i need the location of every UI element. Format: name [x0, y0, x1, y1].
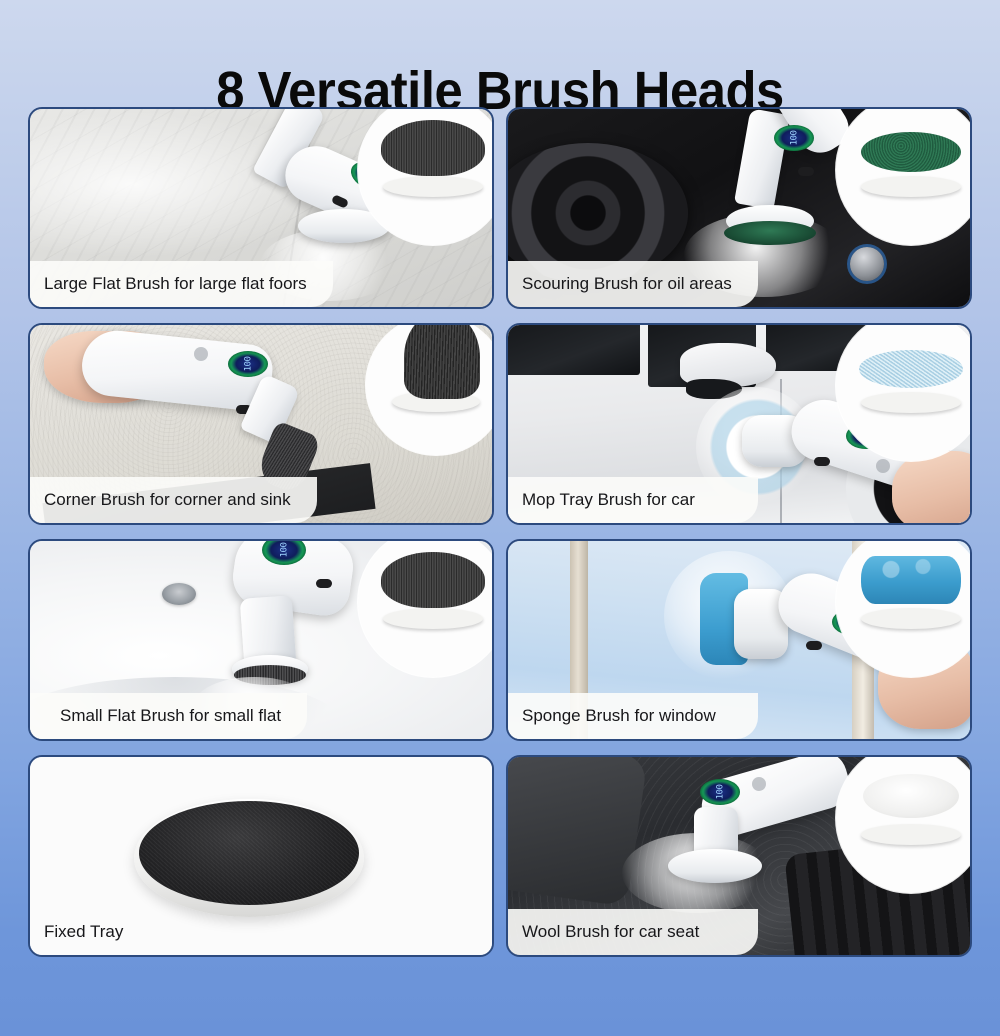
- pad-disc: [859, 798, 963, 844]
- panel-caption: Sponge Brush for window: [508, 693, 758, 739]
- panel-caption: Small Flat Brush for small flat: [30, 693, 307, 739]
- hand: [892, 451, 970, 523]
- sink-drain: [162, 583, 196, 605]
- panel-scouring-brush[interactable]: 100 Scouring Brush for oil areas: [506, 107, 972, 309]
- device-grip-dot: [194, 347, 208, 361]
- green-scouring-surface: [861, 132, 961, 172]
- tray-velcro-surface: [139, 801, 359, 905]
- panel-mop-tray-brush[interactable]: 100 Mop Tray Brush for car: [506, 323, 972, 525]
- cone-bristles: [404, 325, 480, 399]
- panel-large-flat-brush[interactable]: 100 Large Flat Brush for large flat foor…: [28, 107, 494, 309]
- wool-surface: [863, 774, 959, 818]
- panel-small-flat-brush[interactable]: 100 Small Flat Brush for small flat: [28, 539, 494, 741]
- panel-caption: Corner Brush for corner and sink: [30, 477, 317, 523]
- fixed-tray-product: [134, 799, 364, 917]
- brush-head-grid: 100 Large Flat Brush for large flat foor…: [28, 107, 972, 957]
- stove-knob: [850, 247, 884, 281]
- device-display: 100: [774, 125, 814, 151]
- brush-disc: [381, 150, 485, 196]
- pad-disc: [859, 582, 963, 628]
- device-power-button[interactable]: [316, 579, 332, 588]
- panel-caption: Scouring Brush for oil areas: [508, 261, 758, 307]
- device-grip-dot: [752, 777, 766, 791]
- device-display-value: 100: [715, 785, 725, 800]
- device-power-button[interactable]: [814, 457, 830, 466]
- panel-corner-brush[interactable]: 100 Corner Brush for corner and sink: [28, 323, 494, 525]
- sponge-surface: [861, 556, 961, 604]
- brush-disc: [381, 582, 485, 628]
- panel-caption: Wool Brush for car seat: [508, 909, 758, 955]
- panel-fixed-tray[interactable]: Fixed Tray: [28, 755, 494, 957]
- device-display: 100: [700, 779, 740, 805]
- pad-disc: [859, 150, 963, 196]
- page-title: 8 Versatile Brush Heads: [30, 36, 970, 118]
- device-brush-head: [668, 849, 762, 883]
- pad-disc: [859, 366, 963, 412]
- device-display-value: 100: [789, 131, 799, 146]
- bristles: [381, 120, 485, 176]
- device-power-button[interactable]: [806, 641, 822, 650]
- panel-caption: Fixed Tray: [30, 909, 280, 955]
- device-display-value: 100: [243, 357, 253, 372]
- car-window-rear: [508, 325, 640, 375]
- panel-caption: Mop Tray Brush for car: [508, 477, 758, 523]
- chenille-surface: [859, 350, 963, 388]
- panel-caption: Large Flat Brush for large flat foors: [30, 261, 333, 307]
- green-pad-on-device: [724, 221, 816, 245]
- device-display-value: 100: [279, 543, 289, 558]
- panel-sponge-brush[interactable]: 100 Sponge Brush for window: [506, 539, 972, 741]
- bristles: [381, 552, 485, 608]
- brush-disc: [390, 365, 482, 411]
- device-grip-dot: [876, 459, 890, 473]
- panel-wool-brush[interactable]: 100 Wool Brush for car seat: [506, 755, 972, 957]
- device-display: 100: [228, 351, 268, 377]
- device-power-button[interactable]: [798, 167, 814, 176]
- side-mirror: [680, 343, 776, 387]
